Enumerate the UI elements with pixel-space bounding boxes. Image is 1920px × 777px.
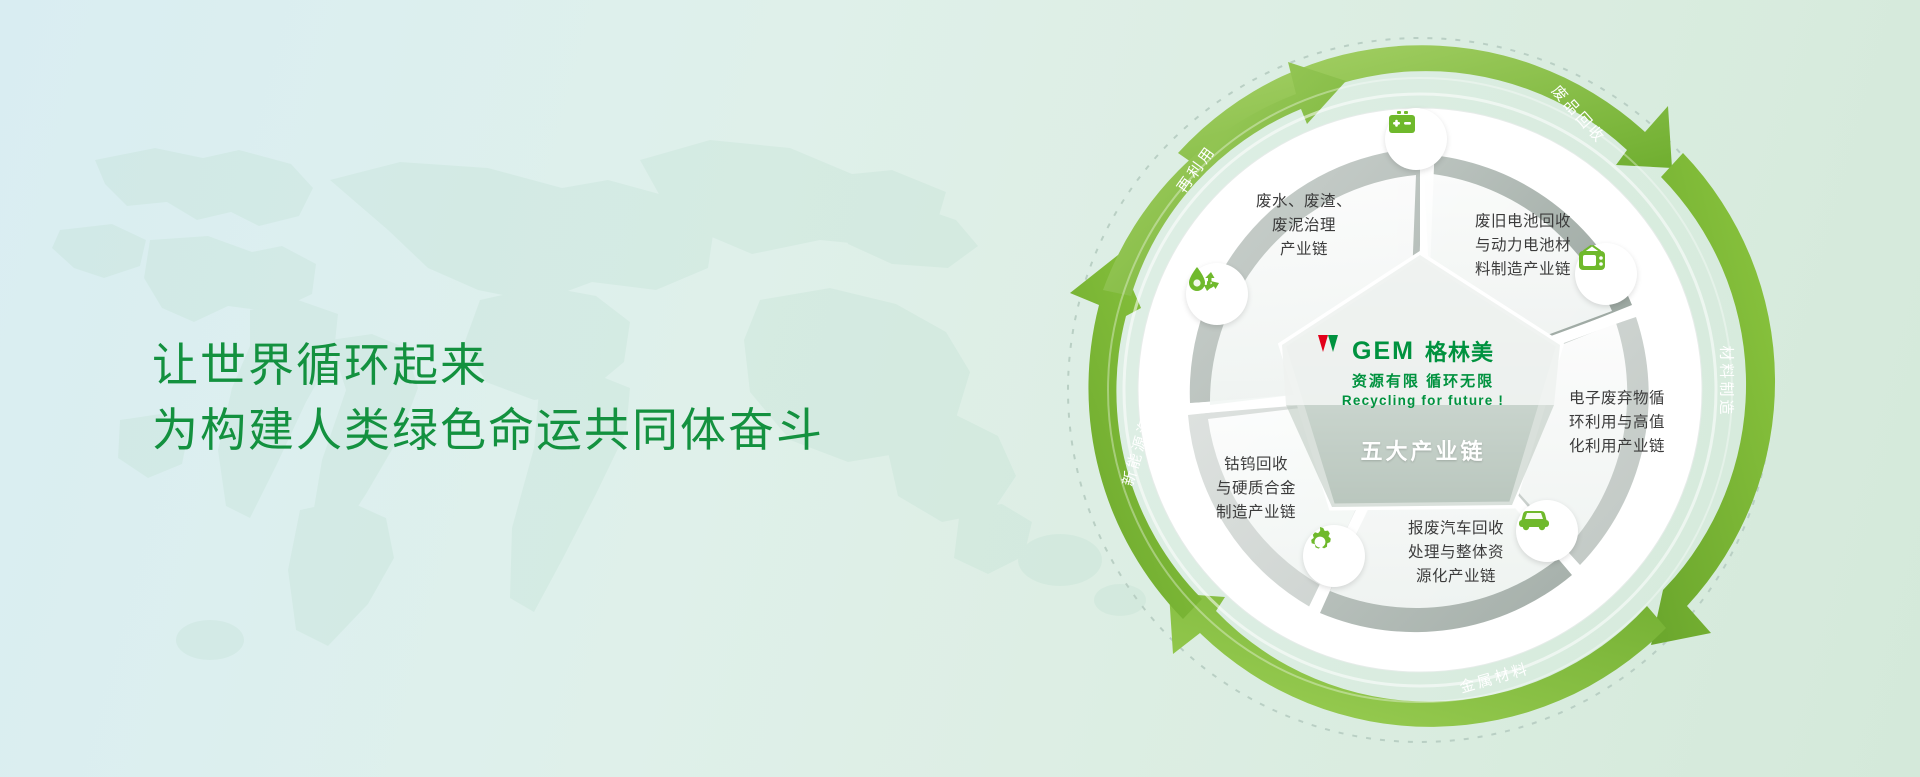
center-core: GEM 格林美 资源有限 循环无限 Recycling for future !… (1318, 335, 1528, 466)
segment-label-waste-water: 废水、废渣、 废泥治理 产业链 (1220, 190, 1388, 262)
gem-slogan-en: Recycling for future ! (1318, 393, 1528, 408)
circular-economy-diagram: GEM 格林美 资源有限 循环无限 Recycling for future !… (1020, 5, 1900, 775)
headline-line-1: 让世界循环起来 (152, 333, 932, 398)
segment-label-scrap-vehicle: 报废汽车回收 处理与整体资 源化产业链 (1372, 517, 1540, 589)
gem-logo: GEM 格林美 (1318, 335, 1528, 367)
segment-label-cobalt-tungsten: 钴钨回收 与硬质合金 制造产业链 (1172, 453, 1340, 525)
recycle-drop-icon (1186, 263, 1248, 325)
car-icon (1516, 500, 1578, 562)
gem-slogan-cn: 资源有限 循环无限 (1318, 370, 1528, 391)
battery-icon (1385, 108, 1447, 170)
gem-name-cn: 格林美 (1425, 335, 1494, 367)
ring-label-material-manufacturing: 材料制造 (1717, 346, 1738, 418)
headline: 让世界循环起来 为构建人类绿色命运共同体奋斗 (152, 333, 932, 464)
television-icon (1575, 243, 1637, 305)
headline-line-2: 为构建人类绿色命运共同体奋斗 (152, 398, 932, 463)
gem-wordmark: GEM (1352, 339, 1415, 364)
gear-icon (1303, 525, 1365, 587)
center-title: 五大产业链 (1318, 434, 1528, 466)
segment-label-e-waste: 电子废弃物循 环利用与高值 化利用产业链 (1532, 387, 1702, 459)
